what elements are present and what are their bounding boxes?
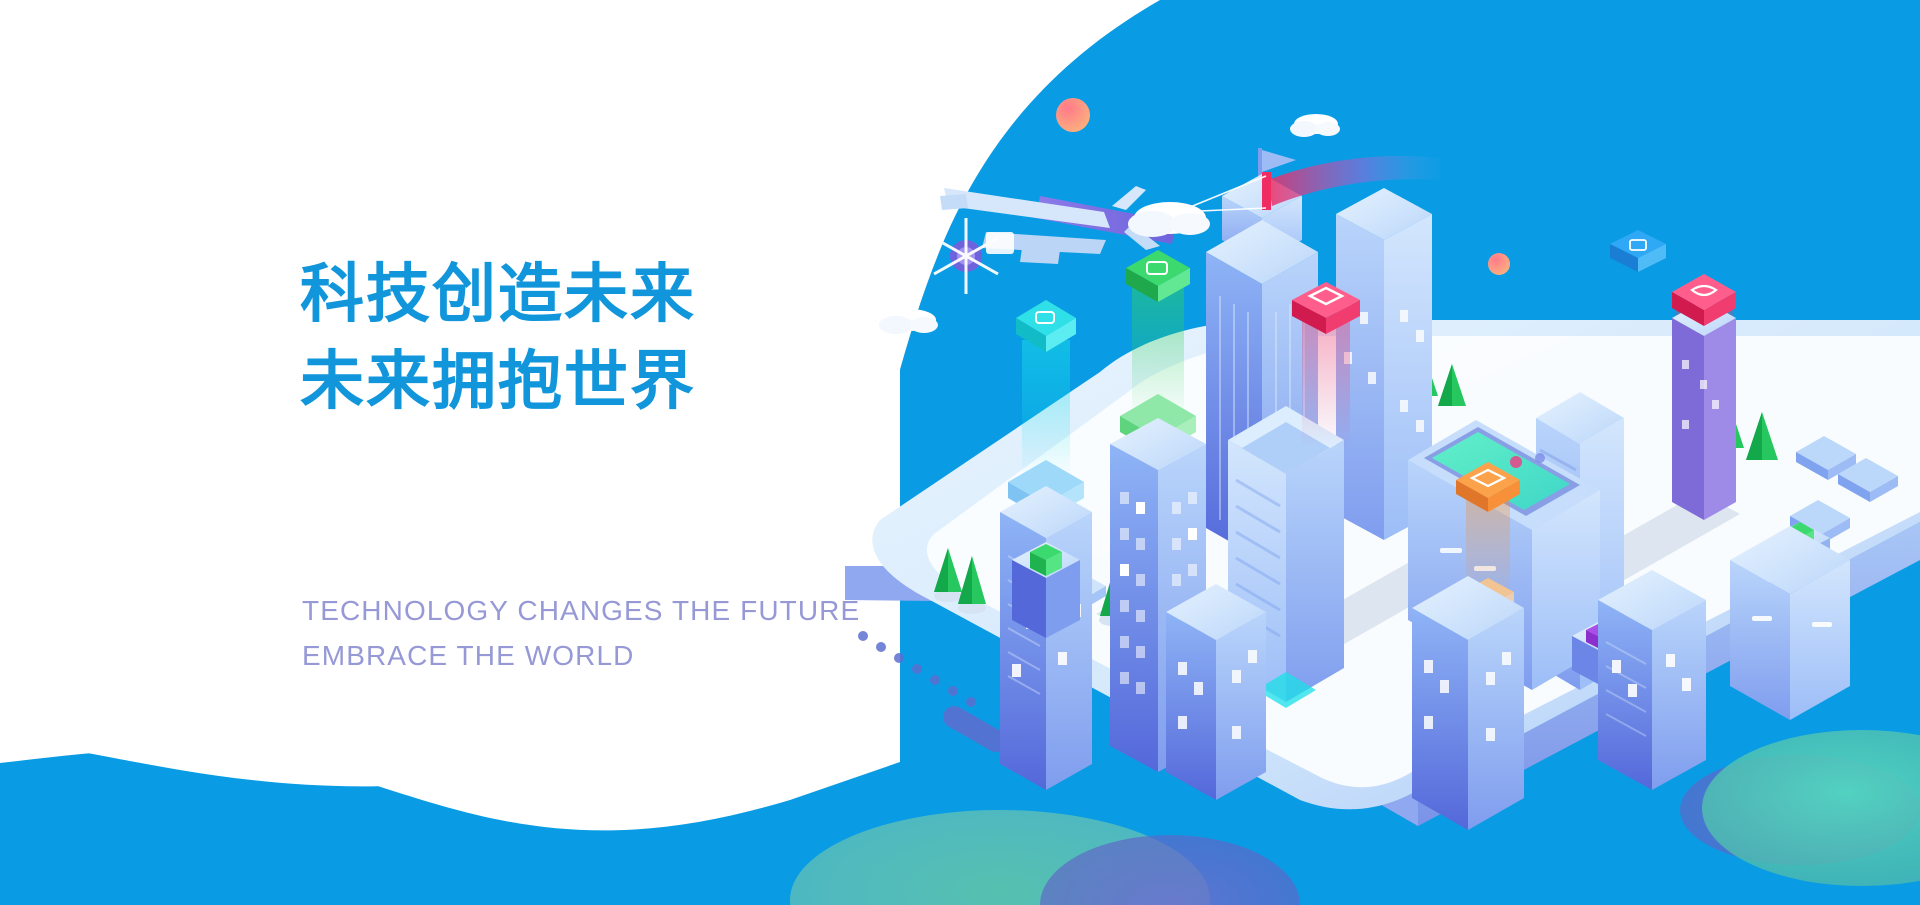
banner-stage: 科技创造未来 未来拥抱世界 TECHNOLOGY CHANGES THE FUT… [0, 0, 1920, 905]
balloon-top [1056, 98, 1090, 132]
headline-line-2: 未来拥抱世界 [300, 339, 696, 426]
cloud-right [1290, 114, 1340, 137]
page-subtitle: TECHNOLOGY CHANGES THE FUTURE EMBRACE TH… [302, 588, 860, 679]
cloud-mid [1128, 202, 1210, 237]
subtitle-line-2: EMBRACE THE WORLD [302, 633, 860, 678]
small-building-green-cube [1012, 542, 1080, 638]
front-lowrise-left [1166, 584, 1266, 800]
beacon-blue-cap [1610, 230, 1666, 272]
headline-line-1: 科技创造未来 [300, 252, 696, 339]
page-title: 科技创造未来 未来拥抱世界 [300, 252, 696, 426]
cloud-left [879, 309, 938, 334]
city-illustration [0, 0, 1920, 905]
beacon-pink-tower [1292, 282, 1360, 448]
beacon-magenta-tower [1672, 300, 1736, 520]
front-lowrise-right [1598, 570, 1706, 790]
subtitle-line-1: TECHNOLOGY CHANGES THE FUTURE [302, 588, 860, 633]
phone-speaker-holes [858, 631, 976, 707]
front-block-far-right [1730, 526, 1850, 720]
balloon-right [1488, 253, 1510, 275]
